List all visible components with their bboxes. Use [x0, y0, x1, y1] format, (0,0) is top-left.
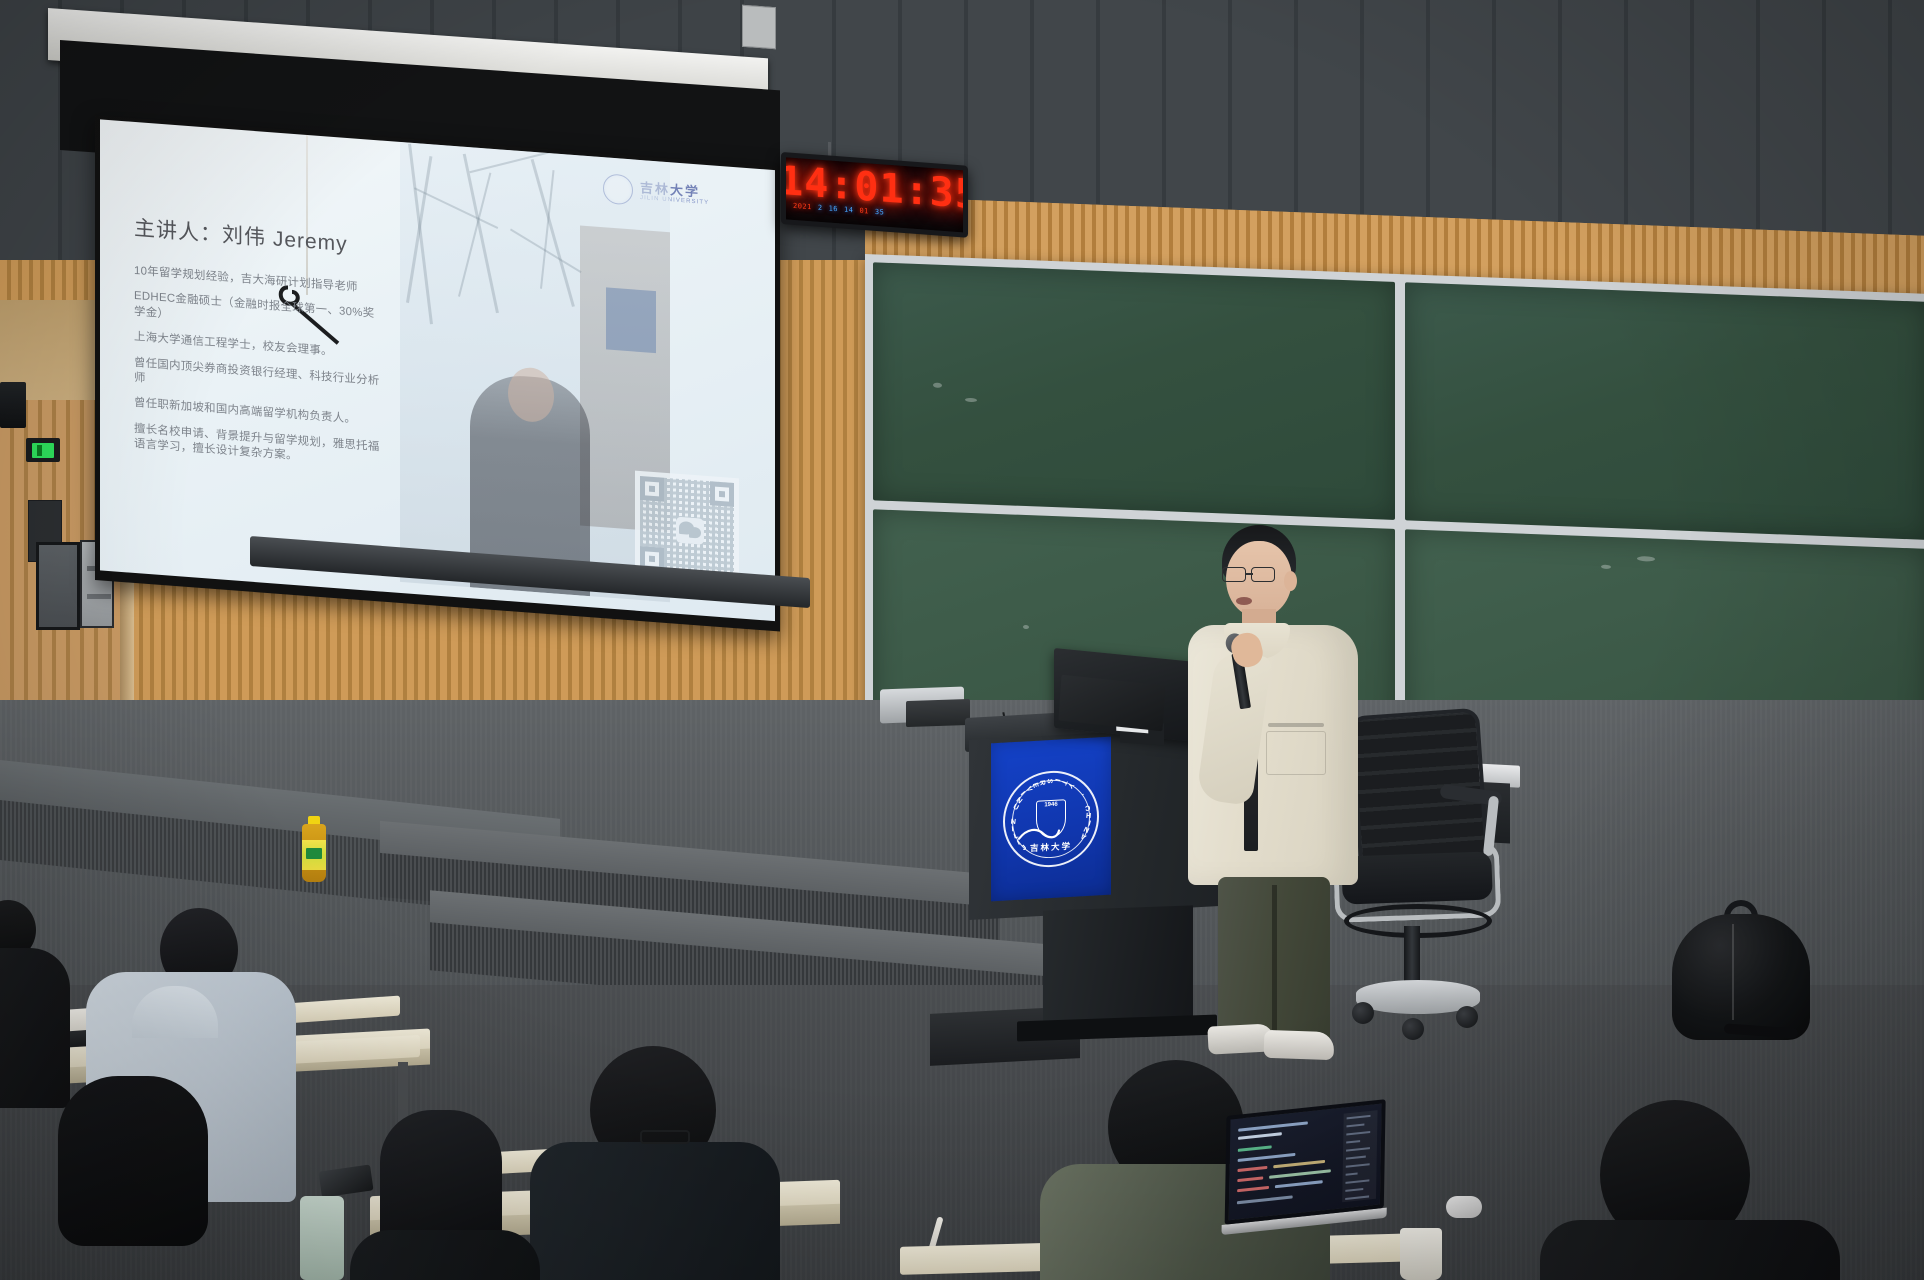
- student-jacket: [530, 1142, 780, 1280]
- backpack-zipper: [1732, 924, 1734, 1020]
- wall-speaker-icon: [0, 382, 26, 428]
- slide-surface: 吉林大学 JILIN UNIVERSITY: [100, 119, 775, 621]
- av-equipment-box-2: [906, 699, 970, 727]
- computer-mouse[interactable]: [1446, 1196, 1482, 1218]
- laptop-screen: [1225, 1099, 1386, 1225]
- chalk-mark: [1023, 624, 1029, 628]
- screen-bracket: [742, 5, 776, 49]
- seal-year: 1946: [1044, 802, 1057, 809]
- presenter-pocket: [1266, 731, 1326, 775]
- clock-sub-minute: 01: [859, 207, 868, 216]
- clock-bracket: [828, 142, 831, 156]
- thermos[interactable]: [300, 1196, 344, 1280]
- seal-bird-icon: [1017, 824, 1061, 844]
- student-torso: [1540, 1220, 1840, 1280]
- eyeglasses-icon: [640, 1130, 690, 1144]
- photo-wall-sign: [606, 287, 656, 353]
- screen-pull-cord[interactable]: [306, 135, 308, 295]
- desk-leg: [398, 1062, 408, 1122]
- chalk-mark: [1601, 564, 1611, 568]
- wall-clock: 14:01:35 2021 2 16 14 01 35: [781, 152, 968, 238]
- student-torso: [0, 948, 70, 1108]
- presenter-shoe: [1264, 1030, 1335, 1060]
- slide-bullets: 10年留学规划经验，吉大海研计划指导老师 EDHEC金融硕士（金融时报全球第一、…: [134, 264, 384, 481]
- slide-bullet: 擅长名校申请、背景提升与留学规划，雅思托福语言学习，擅长设计复杂方案。: [134, 422, 384, 472]
- chair-caster: [1456, 1006, 1478, 1028]
- wechat-logo-icon: [676, 517, 704, 545]
- slide-bullet: EDHEC金融硕士（金融时报全球第一、30%奖学金）: [134, 289, 384, 339]
- jilin-university-seal: JILIN UNIVERSITY · CHINA 1946 吉林大学: [1003, 768, 1099, 869]
- clock-sub-hour: 14: [844, 206, 853, 215]
- presenter-chest-detail: [1268, 723, 1324, 727]
- chair-caster: [1402, 1018, 1424, 1040]
- clock-sub-month: 2: [818, 204, 823, 212]
- clock-sub-second: 35: [875, 208, 884, 217]
- lectern-pedestal: [1043, 905, 1193, 1032]
- student-torso: [350, 1230, 540, 1280]
- chalk-mark: [965, 398, 977, 402]
- backpack-body: [1672, 914, 1810, 1040]
- lectern-logo-panel: JILIN UNIVERSITY · CHINA 1946 吉林大学: [991, 737, 1111, 902]
- slide-speaker-photo: [400, 142, 670, 602]
- lecture-hall-photo: 吉林大学 JILIN UNIVERSITY: [0, 0, 1924, 1280]
- blackboard-panel: [873, 262, 1395, 519]
- laptop-code-minimap: [1342, 1110, 1377, 1202]
- presenter-leg-seam: [1272, 885, 1277, 1035]
- backpack[interactable]: [1672, 900, 1810, 1040]
- clock-sub-year: 2021: [793, 202, 812, 211]
- presenter: [1180, 525, 1370, 1065]
- student-laptop[interactable]: [1224, 1099, 1385, 1243]
- chalk-mark: [1637, 555, 1655, 561]
- presenter-mouth: [1236, 597, 1252, 605]
- bottle-label: [302, 840, 326, 870]
- slide-bullet: 曾任国内顶尖券商投资银行经理、科技行业分析师: [134, 355, 384, 405]
- beverage-bottle[interactable]: [302, 816, 326, 882]
- clock-sub-day: 16: [829, 204, 838, 213]
- eyeglasses-icon: [1222, 567, 1286, 584]
- electrical-cabinet-door[interactable]: [36, 542, 80, 630]
- qr-modules: [640, 476, 734, 577]
- paper-cup[interactable]: [1400, 1228, 1442, 1280]
- slide-title: 主讲人：刘伟 Jeremy: [134, 212, 348, 258]
- student-head: [58, 1076, 208, 1246]
- blackboard-panel: [1405, 282, 1924, 539]
- chalk-mark: [933, 383, 942, 388]
- exit-sign-icon: [26, 438, 60, 462]
- qr-finder-icon: [710, 481, 734, 507]
- qr-finder-icon: [640, 476, 664, 502]
- chair-gas-cylinder: [1404, 926, 1420, 988]
